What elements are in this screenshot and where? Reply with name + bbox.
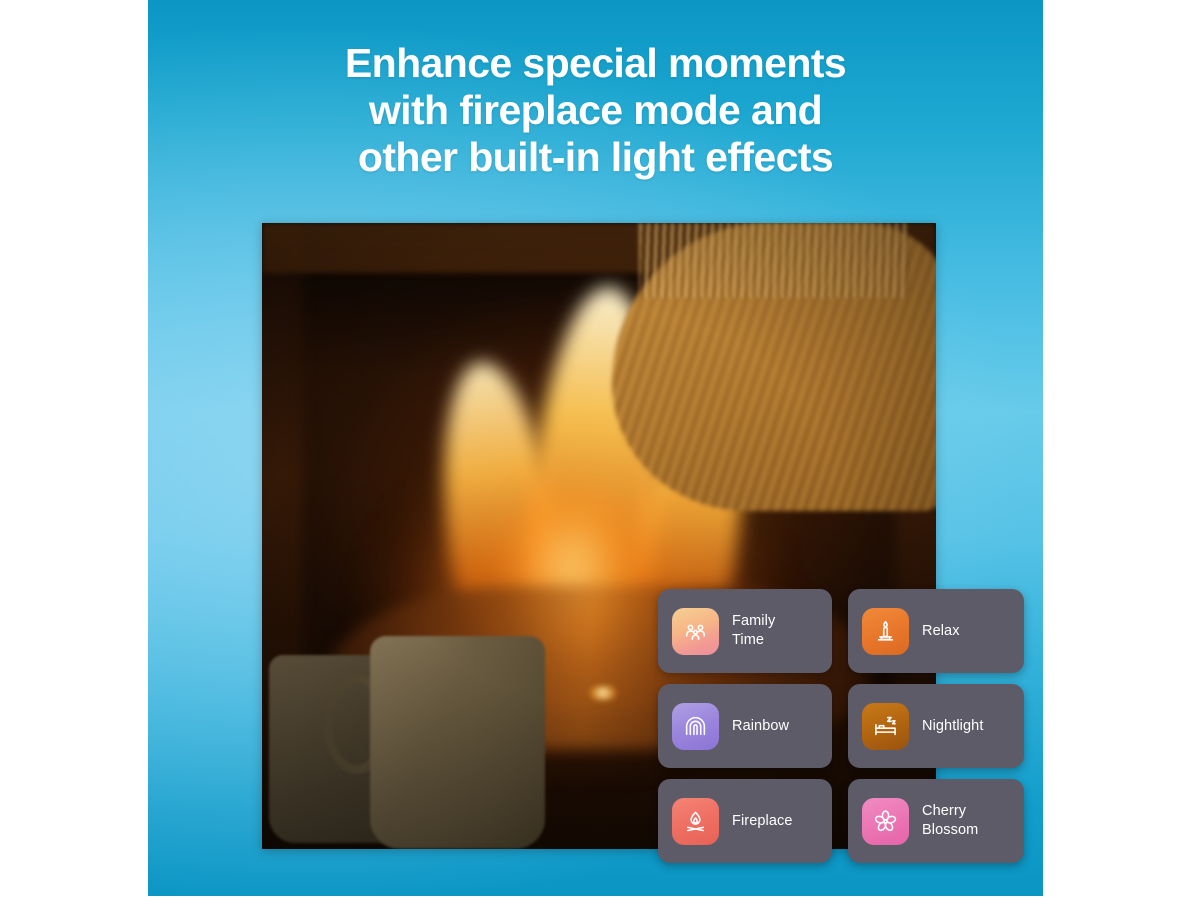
scene-card-family-time[interactable]: Family Time (658, 589, 832, 673)
rainbow-arch-icon (672, 703, 719, 750)
family-people-icon (672, 608, 719, 655)
scene-label-line-1: Family (732, 613, 775, 629)
scene-card-fireplace[interactable]: Fireplace (658, 779, 832, 863)
headline-line-2: with fireplace mode and (148, 87, 1043, 134)
scene-card-grid: Family Time Relax (658, 589, 1033, 863)
scene-label-line-2: Blossom (922, 822, 978, 838)
flower-blossom-icon (862, 798, 909, 845)
headline-line-1: Enhance special moments (148, 40, 1043, 87)
scene-card-relax[interactable]: Relax (848, 589, 1024, 673)
blue-gradient-panel: Enhance special moments with fireplace m… (148, 0, 1043, 896)
page-title: Enhance special moments with fireplace m… (148, 40, 1043, 181)
scene-card-nightlight[interactable]: Nightlight (848, 684, 1024, 768)
bed-sleep-icon (862, 703, 909, 750)
scene-row: Fireplace (658, 779, 1033, 863)
scene-row: Rainbow Nightlight (658, 684, 1033, 768)
scene-card-label: Fireplace (732, 812, 793, 831)
scene-card-cherry-blossom[interactable]: Cherry Blossom (848, 779, 1024, 863)
scene-card-label: Nightlight (922, 717, 983, 736)
scene-card-rainbow[interactable]: Rainbow (658, 684, 832, 768)
campfire-icon (672, 798, 719, 845)
scene-card-label: Rainbow (732, 717, 789, 736)
scene-card-label: Relax (922, 622, 960, 641)
promo-image: Enhance special moments with fireplace m… (0, 0, 1200, 900)
scene-row: Family Time Relax (658, 589, 1033, 673)
headline-line-3: other built-in light effects (148, 134, 1043, 181)
scene-label-line-2: Time (732, 632, 764, 648)
scene-card-label: Family Time (732, 612, 775, 650)
scene-label-line-1: Cherry (922, 803, 966, 819)
candle-icon (862, 608, 909, 655)
scene-card-label: Cherry Blossom (922, 802, 978, 840)
